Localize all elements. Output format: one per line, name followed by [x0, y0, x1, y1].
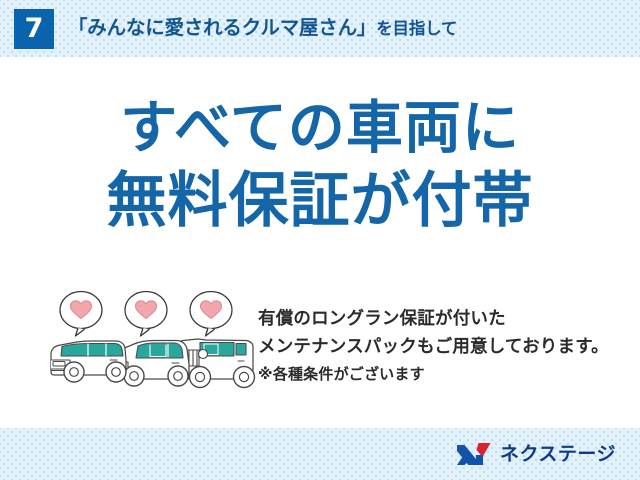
headline-line-1: すべての車両に	[0, 96, 640, 161]
heart-bubble-2	[125, 292, 167, 337]
nextage-n-logo-icon	[456, 441, 492, 467]
heart-bubble-3	[190, 292, 232, 337]
page-title: 「みんなに愛されるクルマ屋さん」を目指して	[68, 19, 457, 39]
cars-illustration	[48, 288, 258, 400]
slide-root: 7 「みんなに愛されるクルマ屋さん」を目指して すべての車両に 無料保証が付帯	[0, 0, 640, 480]
section-number-badge: 7	[14, 9, 54, 49]
headline: すべての車両に 無料保証が付帯	[0, 96, 640, 235]
header-band: 7 「みんなに愛されるクルマ屋さん」を目指して	[0, 0, 640, 57]
footer-band: ネクステージ	[0, 428, 640, 480]
headline-line-2: 無料保証が付帯	[0, 167, 640, 235]
copy-line-1: 有償のロングラン保証が付いた	[258, 304, 630, 332]
copy-line-2: メンテナンスパックもご用意しております。	[258, 332, 630, 360]
supporting-copy: 有償のロングラン保証が付いた メンテナンスパックもご用意しております。 ※各種条…	[258, 304, 630, 387]
page-title-tail: を目指して	[376, 20, 457, 38]
brand-lockup: ネクステージ	[456, 441, 616, 467]
brand-name: ネクステージ	[500, 445, 616, 464]
copy-note: ※各種条件がございます	[258, 363, 630, 387]
cars-svg	[48, 288, 258, 400]
page-title-quoted: 「みんなに愛されるクルマ屋さん」	[68, 17, 376, 39]
lower-section: 有償のロングラン保証が付いた メンテナンスパックもご用意しております。 ※各種条…	[0, 286, 640, 416]
car-kei-wagon	[51, 341, 126, 382]
heart-bubble-1	[60, 292, 102, 337]
